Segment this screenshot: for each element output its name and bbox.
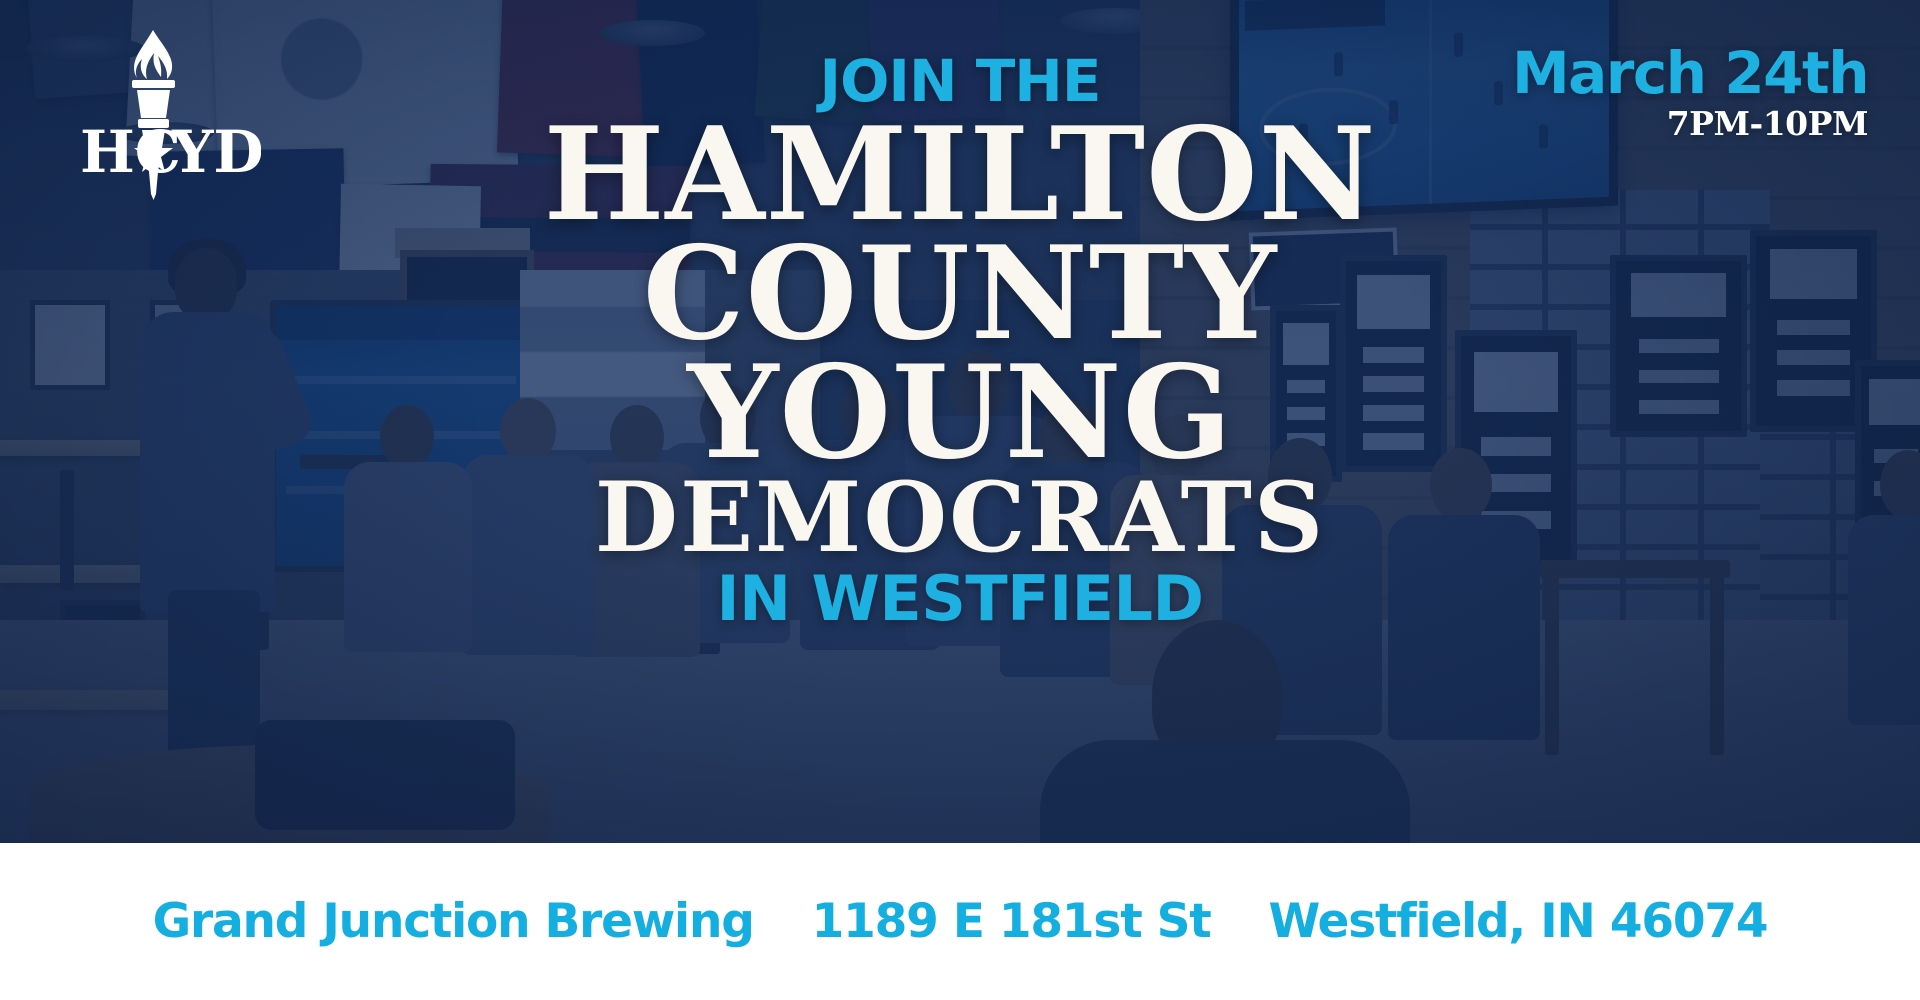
footer-bar: Grand Junction Brewing 1189 E 181st St W… [0,843,1920,1000]
headline-line-2: COUNTY [0,235,1920,354]
headline-line-3: YOUNG [0,354,1920,473]
venue-name: Grand Junction Brewing [153,894,754,949]
event-flyer: HC YD March 24th 7PM-10PM JOIN THE HAMIL… [0,0,1920,1000]
headline-block: JOIN THE HAMILTON COUNTY YOUNG DEMOCRATS… [0,52,1920,630]
city-state-zip: Westfield, IN 46074 [1269,894,1768,949]
headline-line-1: HAMILTON [0,116,1920,235]
headline-line-4: DEMOCRATS [0,473,1920,562]
headline-subline: IN WESTFIELD [0,568,1920,630]
street-address: 1189 E 181st St [812,894,1211,949]
